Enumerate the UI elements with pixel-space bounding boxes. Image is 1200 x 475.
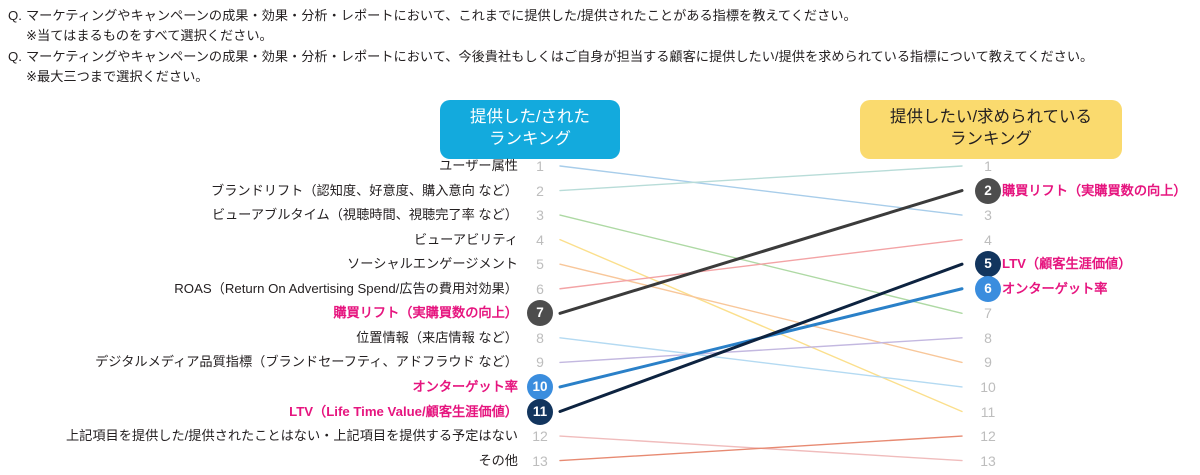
slope-line — [560, 240, 962, 289]
rank-number-left-12: 12 — [527, 423, 553, 449]
rank-number-right-8: 8 — [975, 325, 1001, 351]
rank-number-left-13: 13 — [527, 448, 553, 474]
rank-number-left-11: 11 — [527, 399, 553, 425]
slope-line — [560, 264, 962, 411]
left-item-label-4: ビューアビリティ — [0, 233, 518, 246]
left-item-label-11: LTV（Life Time Value/顧客生涯価値） — [0, 405, 518, 418]
rank-number-right-11: 11 — [975, 399, 1001, 425]
left-item-label-13: その他 — [0, 454, 518, 467]
slope-line — [560, 338, 962, 387]
left-item-label-10: オンターゲット率 — [0, 380, 518, 393]
left-item-label-2: ブランドリフト（認知度、好意度、購入意向 など） — [0, 184, 518, 197]
right-item-label-6: オンターゲット率 — [1002, 282, 1108, 295]
rank-number-left-4: 4 — [527, 227, 553, 253]
rank-number-left-1: 1 — [527, 153, 553, 179]
rank-number-left-9: 9 — [527, 349, 553, 375]
rank-number-left-5: 5 — [527, 251, 553, 277]
rank-number-right-10: 10 — [975, 374, 1001, 400]
rank-number-right-6: 6 — [975, 276, 1001, 302]
slope-line — [560, 240, 962, 412]
rank-number-right-12: 12 — [975, 423, 1001, 449]
rank-number-left-2: 2 — [527, 178, 553, 204]
rank-number-right-5: 5 — [975, 251, 1001, 277]
right-item-label-2: 購買リフト（実購買数の向上） — [1002, 184, 1187, 197]
right-item-label-5: LTV（顧客生涯価値） — [1002, 257, 1131, 270]
rank-number-right-3: 3 — [975, 202, 1001, 228]
rank-number-right-13: 13 — [975, 448, 1001, 474]
rank-number-right-7: 7 — [975, 300, 1001, 326]
slope-line — [560, 338, 962, 363]
rank-number-left-10: 10 — [527, 374, 553, 400]
rank-number-right-2: 2 — [975, 178, 1001, 204]
slope-line — [560, 191, 962, 314]
rank-number-right-1: 1 — [975, 153, 1001, 179]
slope-line — [560, 166, 962, 191]
left-item-label-8: 位置情報（来店情報 など） — [0, 331, 518, 344]
left-item-label-9: デジタルメディア品質指標（ブランドセーフティ、アドフラウド など） — [0, 355, 518, 368]
slope-line — [560, 264, 962, 362]
rank-number-left-3: 3 — [527, 202, 553, 228]
rank-number-right-9: 9 — [975, 349, 1001, 375]
rank-number-left-8: 8 — [527, 325, 553, 351]
left-item-label-6: ROAS（Return On Advertising Spend/広告の費用対効… — [0, 282, 518, 295]
rank-number-right-4: 4 — [975, 227, 1001, 253]
left-item-label-12: 上記項目を提供した/提供されたことはない・上記項目を提供する予定はない — [0, 429, 518, 442]
left-item-label-3: ビューアブルタイム（視聴時間、視聴完了率 など） — [0, 208, 518, 221]
left-item-label-7: 購買リフト（実購買数の向上） — [0, 306, 518, 319]
rank-number-left-6: 6 — [527, 276, 553, 302]
left-item-label-1: ユーザー属性 — [0, 159, 518, 172]
left-item-label-5: ソーシャルエンゲージメント — [0, 257, 518, 270]
